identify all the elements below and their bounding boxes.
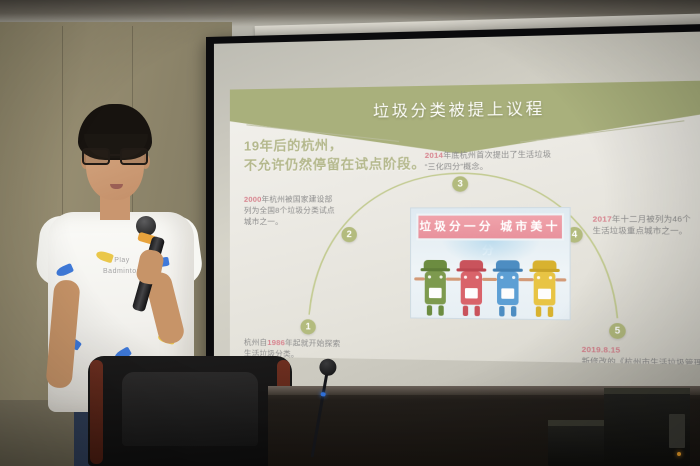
timeline-node-3: 3 xyxy=(452,176,468,192)
speaker-large xyxy=(604,388,690,466)
caption-year-2019: 2019.8.15 xyxy=(582,345,621,355)
bin-yellow xyxy=(529,260,559,317)
caption-year-2014: 2014 xyxy=(425,151,443,160)
caption-year-1986: 1986 xyxy=(267,338,285,347)
timeline-node-5: 5 xyxy=(609,323,626,339)
timeline-caption-5: 2019.8.15 新修改的《杭州市生活垃圾管理条例》 正式施行。 xyxy=(582,344,700,365)
timeline-caption-4: 2017年十二月被列为46个 生活垃圾重点城市之一。 xyxy=(593,213,700,237)
bin-red xyxy=(456,260,486,316)
timeline-node-1: 1 xyxy=(301,319,316,334)
caption-year-2000: 2000 xyxy=(244,195,262,204)
presentation-slide: 垃圾分类被提上议程 19年后的杭州， 不允许仍然停留在试点阶段。 1 2 3 4… xyxy=(230,81,700,365)
chair-backrest xyxy=(122,372,258,446)
leather-chair xyxy=(88,356,292,466)
power-led-icon xyxy=(677,452,681,456)
speaker-control-panel xyxy=(669,414,685,448)
glasses-icon xyxy=(82,148,148,165)
photo-scene: 垃圾分类被提上议程 19年后的杭州， 不允许仍然停留在试点阶段。 1 2 3 4… xyxy=(0,0,700,466)
timeline-node-2: 2 xyxy=(341,227,356,242)
timeline-caption-3: 2014年底杭州首次提出了生活垃圾 “三化四分”概念。 xyxy=(425,148,630,173)
caption-year-2017: 2017 xyxy=(593,214,612,224)
chair-armrest-left xyxy=(90,360,103,464)
bin-green xyxy=(421,260,451,316)
poster-image: 垃圾分一分 城市美十分 xyxy=(410,207,571,320)
poster-bin-row xyxy=(417,256,563,317)
poster-headline: 垃圾分一分 城市美十分 xyxy=(416,213,564,240)
timeline-caption-2: 2000年杭州被国家建设部 列为全国8个垃圾分类试点 城市之一。 xyxy=(244,193,398,227)
bin-blue xyxy=(493,260,523,316)
